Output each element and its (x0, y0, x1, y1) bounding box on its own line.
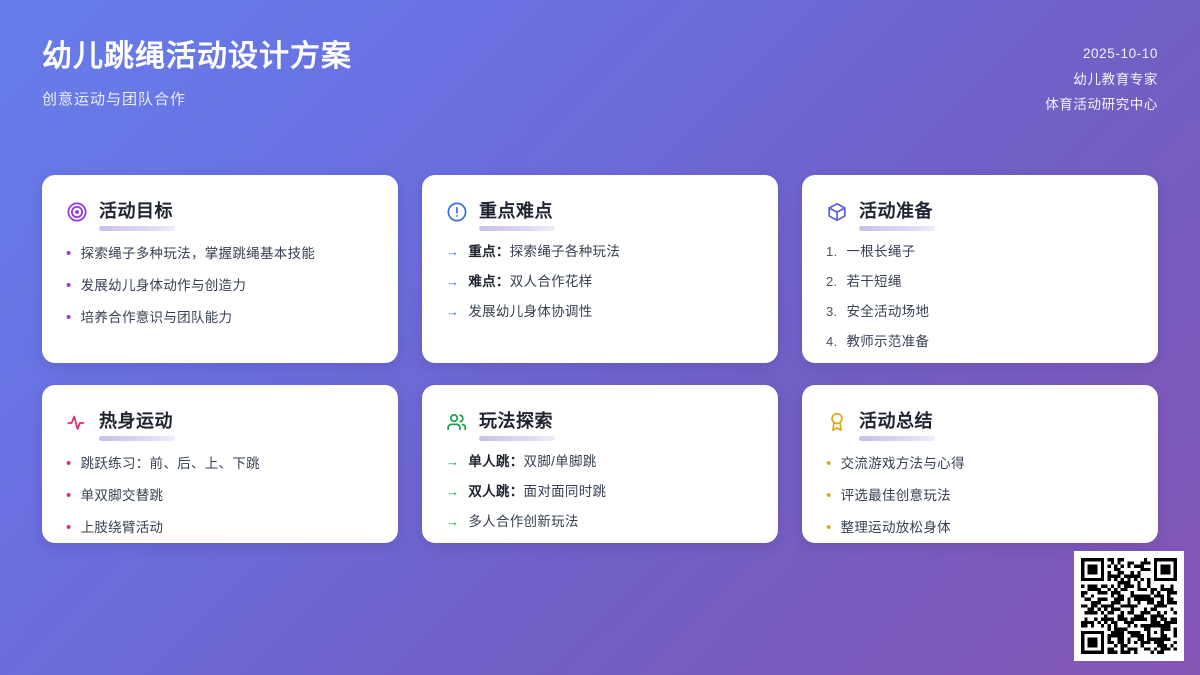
meta-date: 2025-10-10 (1045, 44, 1158, 64)
list-marker: 4. (826, 333, 837, 351)
card-header: 活动目标 (66, 197, 374, 227)
slide-root: 幼儿跳绳活动设计方案 创意运动与团队合作 2025-10-10 幼儿教育专家 体… (0, 0, 1200, 675)
list-item: •发展幼儿身体动作与创造力 (66, 275, 374, 296)
qr-code[interactable] (1074, 551, 1184, 661)
list-marker: → (446, 453, 459, 471)
card-list: →单人跳：双脚/单脚跳→双人跳：面对面同时跳→多人合作创新玩法 (446, 453, 754, 532)
list-item: •单双脚交替跳 (66, 485, 374, 506)
card-1: 活动目标•探索绳子多种玩法，掌握跳绳基本技能•发展幼儿身体动作与创造力•培养合作… (42, 175, 398, 363)
activity-pulse-icon (66, 411, 88, 433)
card-list: •跳跃练习：前、后、上、下跳•单双脚交替跳•上肢绕臂活动 (66, 453, 374, 538)
page-title: 幼儿跳绳活动设计方案 (42, 38, 352, 76)
meta-author: 幼儿教育专家 (1045, 70, 1158, 90)
card-2: 重点难点→重点：探索绳子各种玩法→难点：双人合作花样→发展幼儿身体协调性 (422, 175, 778, 363)
list-item: →双人跳：面对面同时跳 (446, 483, 754, 502)
list-item-text: 一根长绳子 (846, 243, 915, 262)
list-item-text: 多人合作创新玩法 (468, 513, 578, 532)
list-item-text: 教师示范准备 (846, 333, 929, 352)
list-marker: → (446, 513, 459, 531)
list-item: →重点：探索绳子各种玩法 (446, 243, 754, 262)
card-list: •探索绳子多种玩法，掌握跳绳基本技能•发展幼儿身体动作与创造力•培养合作意识与团… (66, 243, 374, 328)
list-item-text: 上肢绕臂活动 (81, 519, 164, 538)
list-item-value: 双脚/单脚跳 (524, 454, 597, 469)
card-title: 热身运动 (99, 407, 173, 437)
card-title: 玩法探索 (479, 407, 553, 437)
list-marker: → (446, 303, 459, 321)
list-marker: → (446, 243, 459, 261)
list-item-text: 发展幼儿身体动作与创造力 (81, 277, 247, 296)
list-item: 1.一根长绳子 (826, 243, 1134, 262)
list-marker: • (66, 275, 72, 296)
list-item: →单人跳：双脚/单脚跳 (446, 453, 754, 472)
list-item: •交流游戏方法与心得 (826, 453, 1134, 474)
list-item: 3.安全活动场地 (826, 303, 1134, 322)
award-icon (826, 411, 848, 433)
list-item-text: 整理运动放松身体 (841, 519, 951, 538)
list-marker: → (446, 273, 459, 291)
qr-code-image (1081, 558, 1177, 654)
list-item-text: 发展幼儿身体协调性 (468, 303, 592, 322)
list-marker: • (826, 517, 832, 538)
list-item-text: 培养合作意识与团队能力 (81, 309, 233, 328)
list-item-text: 单双脚交替跳 (81, 487, 164, 506)
card-6: 活动总结•交流游戏方法与心得•评选最佳创意玩法•整理运动放松身体 (802, 385, 1158, 543)
list-item: •探索绳子多种玩法，掌握跳绳基本技能 (66, 243, 374, 264)
list-marker: → (446, 483, 459, 501)
card-header: 热身运动 (66, 407, 374, 437)
card-header: 活动准备 (826, 197, 1134, 227)
list-item: 4.教师示范准备 (826, 333, 1134, 352)
card-grid: 活动目标•探索绳子多种玩法，掌握跳绳基本技能•发展幼儿身体动作与创造力•培养合作… (42, 175, 1158, 543)
card-list: 1.一根长绳子2.若干短绳3.安全活动场地4.教师示范准备 (826, 243, 1134, 352)
list-marker: • (66, 453, 72, 474)
list-item: •评选最佳创意玩法 (826, 485, 1134, 506)
card-title: 活动总结 (859, 407, 933, 437)
list-item: •培养合作意识与团队能力 (66, 307, 374, 328)
list-marker: • (826, 485, 832, 506)
card-3: 活动准备1.一根长绳子2.若干短绳3.安全活动场地4.教师示范准备 (802, 175, 1158, 363)
list-marker: 1. (826, 243, 837, 261)
list-item: •上肢绕臂活动 (66, 517, 374, 538)
list-item: →难点：双人合作花样 (446, 273, 754, 292)
list-item-text: 跳跃练习：前、后、上、下跳 (81, 455, 260, 474)
list-item: •跳跃练习：前、后、上、下跳 (66, 453, 374, 474)
list-item: →发展幼儿身体协调性 (446, 303, 754, 322)
users-icon (446, 411, 468, 433)
card-title: 活动准备 (859, 197, 933, 227)
list-marker: • (66, 243, 72, 264)
list-marker: • (826, 453, 832, 474)
slide-header: 幼儿跳绳活动设计方案 创意运动与团队合作 2025-10-10 幼儿教育专家 体… (0, 0, 1200, 150)
list-item-text: 交流游戏方法与心得 (841, 455, 965, 474)
list-item: •整理运动放松身体 (826, 517, 1134, 538)
list-item-text: 若干短绳 (846, 273, 901, 292)
list-item-text: 单人跳：双脚/单脚跳 (468, 453, 596, 472)
card-header: 重点难点 (446, 197, 754, 227)
card-title: 活动目标 (99, 197, 173, 227)
target-icon (66, 201, 88, 223)
card-4: 热身运动•跳跃练习：前、后、上、下跳•单双脚交替跳•上肢绕臂活动 (42, 385, 398, 543)
card-5: 玩法探索→单人跳：双脚/单脚跳→双人跳：面对面同时跳→多人合作创新玩法 (422, 385, 778, 543)
list-item-text: 安全活动场地 (846, 303, 929, 322)
alert-circle-icon (446, 201, 468, 223)
card-header: 玩法探索 (446, 407, 754, 437)
meta-organization: 体育活动研究中心 (1045, 95, 1158, 115)
list-item-value: 面对面同时跳 (524, 484, 607, 499)
list-item-text: 难点：双人合作花样 (468, 273, 592, 292)
card-list: •交流游戏方法与心得•评选最佳创意玩法•整理运动放松身体 (826, 453, 1134, 538)
header-meta: 2025-10-10 幼儿教育专家 体育活动研究中心 (1045, 38, 1158, 115)
list-item: →多人合作创新玩法 (446, 513, 754, 532)
card-header: 活动总结 (826, 407, 1134, 437)
list-marker: • (66, 517, 72, 538)
list-item-label: 双人跳： (468, 484, 523, 499)
list-item-value: 探索绳子各种玩法 (510, 244, 620, 259)
page-subtitle: 创意运动与团队合作 (42, 88, 352, 109)
list-marker: • (66, 485, 72, 506)
list-marker: 2. (826, 273, 837, 291)
card-list: →重点：探索绳子各种玩法→难点：双人合作花样→发展幼儿身体协调性 (446, 243, 754, 322)
list-item-value: 双人合作花样 (510, 274, 593, 289)
list-item-label: 难点： (468, 274, 509, 289)
list-item-text: 评选最佳创意玩法 (841, 487, 951, 506)
card-title: 重点难点 (479, 197, 553, 227)
package-icon (826, 201, 848, 223)
list-marker: • (66, 307, 72, 328)
list-item-text: 双人跳：面对面同时跳 (468, 483, 606, 502)
list-item: 2.若干短绳 (826, 273, 1134, 292)
list-item-label: 单人跳： (468, 454, 523, 469)
list-item-label: 重点： (468, 244, 509, 259)
list-item-text: 探索绳子多种玩法，掌握跳绳基本技能 (81, 245, 316, 264)
list-item-text: 重点：探索绳子各种玩法 (468, 243, 620, 262)
list-marker: 3. (826, 303, 837, 321)
header-left: 幼儿跳绳活动设计方案 创意运动与团队合作 (42, 38, 352, 109)
